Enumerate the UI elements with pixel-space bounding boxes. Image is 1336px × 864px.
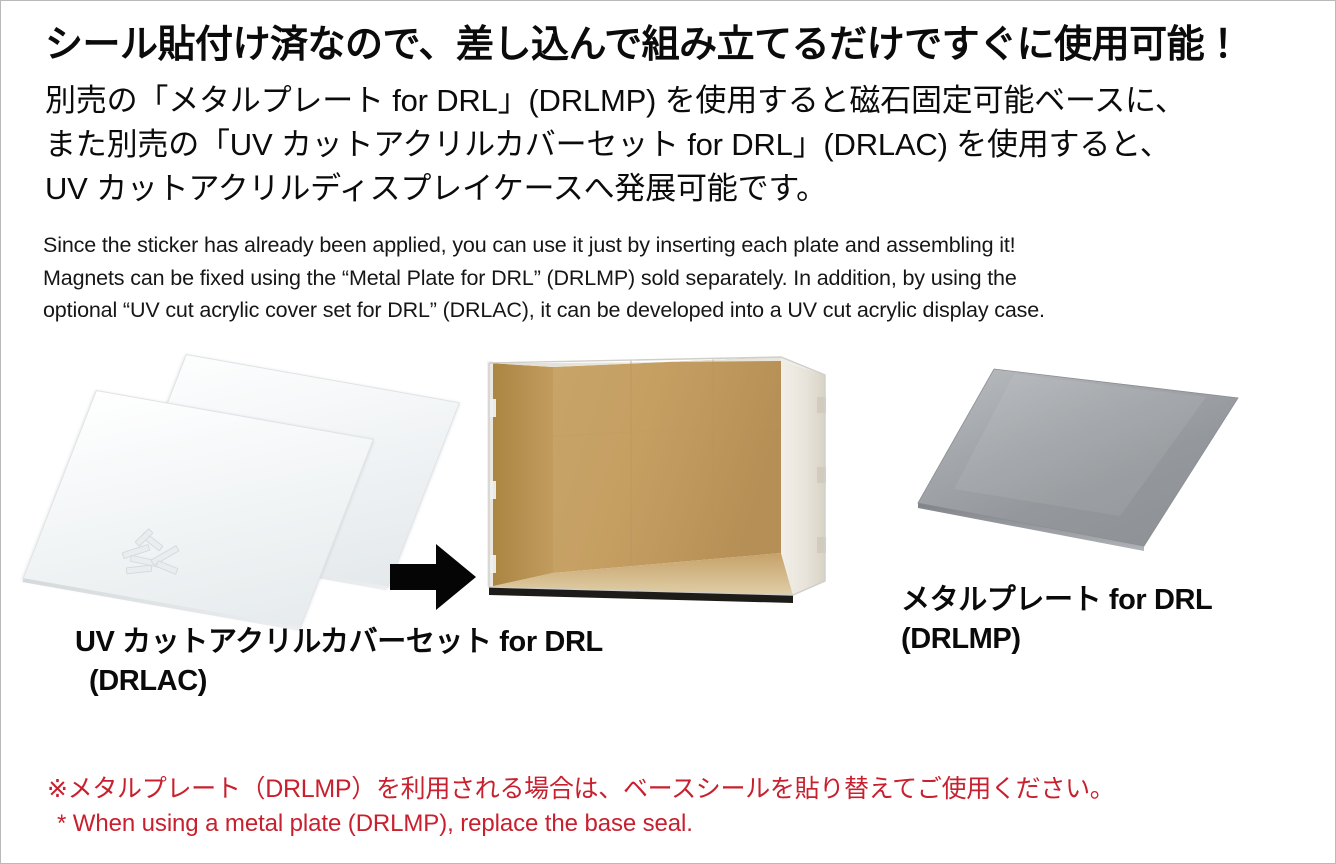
product-info-panel: シール貼付け済なので、差し込んで組み立てるだけですぐに使用可能！ 別売の「メタル… bbox=[0, 0, 1336, 864]
metal-plate-caption-line-1: メタルプレート for DRL bbox=[901, 581, 1321, 620]
metal-plate-photo bbox=[906, 356, 1246, 561]
acrylic-small-parts-icon bbox=[120, 532, 190, 578]
acrylic-cover-set-caption-line-1: UV カットアクリルカバーセット for DRL bbox=[75, 623, 775, 662]
english-description: Since the sticker has already been appli… bbox=[43, 229, 1307, 327]
acrylic-display-case-photo bbox=[481, 341, 841, 611]
footnote-english: * When using a metal plate (DRLMP), repl… bbox=[47, 807, 1277, 842]
subheadline-line-2: また別売の「UV カットアクリルカバーセット for DRL」(DRLAC) を… bbox=[45, 123, 1315, 167]
footnote-japanese: ※メタルプレート（DRLMP）を利用される場合は、ベースシールを貼り替えてご使用… bbox=[47, 771, 1277, 807]
english-description-line-3: optional “UV cut acrylic cover set for D… bbox=[43, 294, 1307, 327]
subheadline: 別売の「メタルプレート for DRL」(DRLMP) を使用すると磁石固定可能… bbox=[45, 79, 1315, 211]
subheadline-line-1: 別売の「メタルプレート for DRL」(DRLMP) を使用すると磁石固定可能… bbox=[45, 79, 1315, 123]
headline: シール貼付け済なので、差し込んで組み立てるだけですぐに使用可能！ bbox=[45, 23, 1305, 68]
footnote: ※メタルプレート（DRLMP）を利用される場合は、ベースシールを貼り替えてご使用… bbox=[47, 771, 1277, 842]
english-description-line-2: Magnets can be fixed using the “Metal Pl… bbox=[43, 262, 1307, 295]
acrylic-cover-set-caption: UV カットアクリルカバーセット for DRL (DRLAC) bbox=[75, 623, 775, 701]
acrylic-cover-set-caption-line-2: (DRLAC) bbox=[75, 662, 775, 701]
metal-plate-caption-line-2: (DRLMP) bbox=[901, 620, 1321, 659]
metal-plate-caption: メタルプレート for DRL (DRLMP) bbox=[901, 581, 1321, 659]
right-arrow-icon bbox=[390, 542, 476, 612]
english-description-line-1: Since the sticker has already been appli… bbox=[43, 229, 1307, 262]
subheadline-line-3: UV カットアクリルディスプレイケースへ発展可能です。 bbox=[45, 167, 1315, 211]
